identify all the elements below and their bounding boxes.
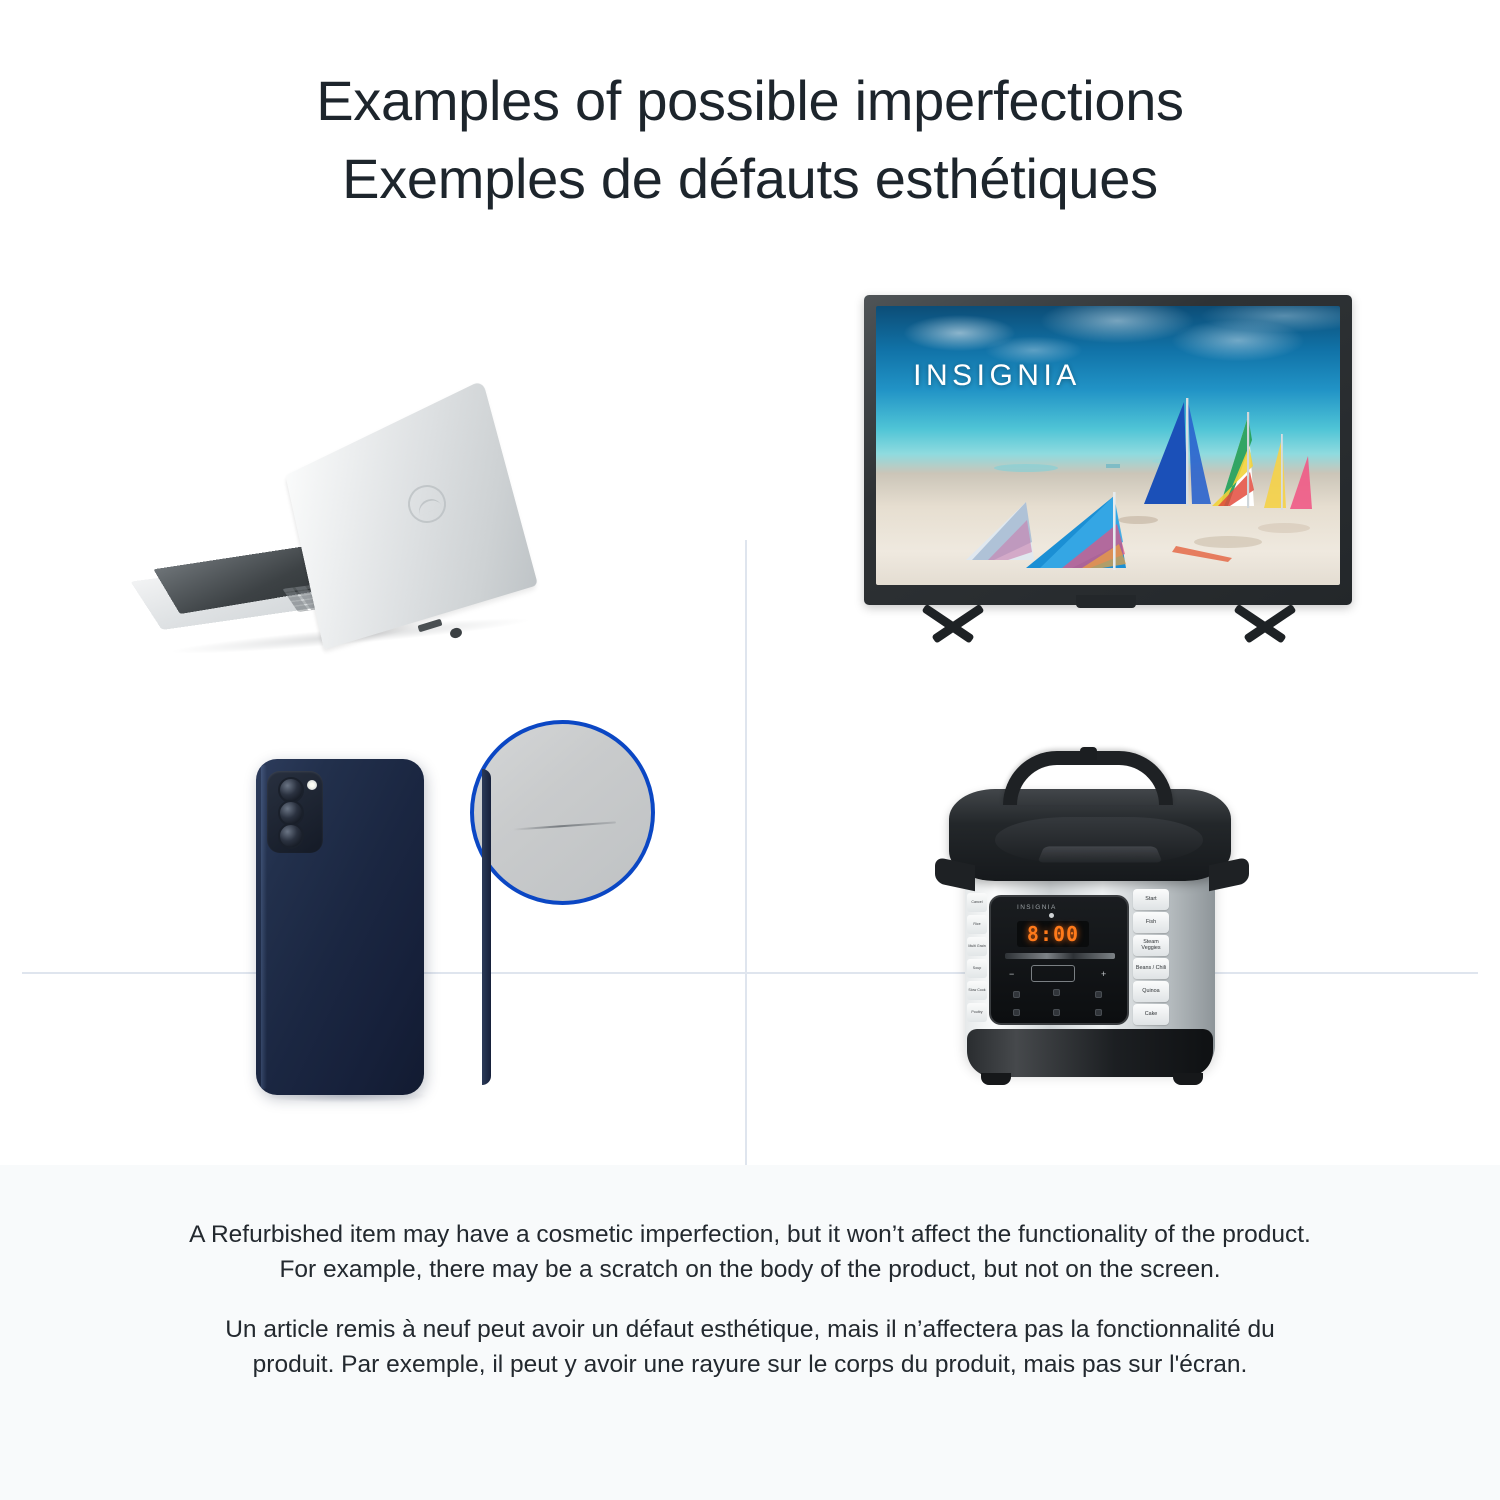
cooker-button[interactable]: Cancel [967,893,987,912]
camera-flash-icon [307,780,317,790]
cooker-button[interactable]: Soup [967,959,987,978]
disclaimer-paragraph-fr: Un article remis à neuf peut avoir un dé… [185,1312,1315,1382]
cooker-control-panel: INSIGNIA 8:00 − + [989,895,1129,1025]
cell-pressure-cooker: Cancel Rice Multi Grain Soup Slow Cook P… [747,719,1500,1165]
cooker-button-fish[interactable]: Fish [1133,912,1169,933]
tv-bezel: INSIGNIA [864,295,1352,605]
tv-beach-scene [876,306,1340,585]
tv-brand-logo: INSIGNIA [913,359,1081,393]
cooker-display: 8:00 [1017,921,1089,947]
cooker-button[interactable]: Multi Grain [967,937,987,956]
cooker-steam-valve-icon [1080,747,1097,760]
cell-television: INSIGNIA [747,255,1500,717]
cooker-handle-ear [935,857,975,892]
camera-lens-icon [278,823,304,849]
cooker-key[interactable] [1013,991,1020,998]
cooker-illustration: Cancel Rice Multi Grain Soup Slow Cook P… [937,747,1277,1127]
tv-screen: INSIGNIA [876,306,1340,585]
cooker-minus-button[interactable]: − [1009,969,1014,979]
cooker-handle-ear [1209,857,1249,892]
examples-grid: INSIGNIA [0,255,1500,1165]
cell-laptop [0,255,745,717]
cooker-button-beans-chili[interactable]: Beans / Chili [1133,958,1169,979]
cooker-button-steam-veggies[interactable]: Steam Veggies [1133,935,1169,956]
refurbished-imperfections-infographic: Examples of possible imperfections Exemp… [0,0,1500,1500]
cooker-key[interactable] [1013,1009,1020,1016]
page-title-fr: Exemples de défauts esthétiques [342,140,1158,218]
cooker-base [967,1029,1213,1077]
cooker-button-start[interactable]: Start [1133,889,1169,910]
cooker-brand-label: INSIGNIA [1017,904,1057,911]
cooker-plus-button[interactable]: + [1101,969,1106,979]
cooker-lid-plate [1037,846,1162,862]
disclaimer-paragraph-en: A Refurbished item may have a cosmetic i… [185,1217,1315,1287]
phone-illustration [256,759,486,1129]
cooker-button-cake[interactable]: Cake [1133,1004,1169,1025]
cooker-button[interactable]: Rice [967,915,987,934]
phone-body [256,759,424,1095]
phone-side-edge [482,769,491,1085]
page-title-en: Examples of possible imperfections [316,62,1184,140]
cooker-pressure-selector[interactable] [1031,965,1075,982]
cooker-key[interactable] [1053,989,1060,996]
tv-ir-sensor [1076,595,1136,608]
cooker-indicator-led [1049,913,1054,918]
cooker-display-value: 8:00 [1027,922,1079,946]
cooker-left-buttons: Cancel Rice Multi Grain Soup Slow Cook P… [967,893,987,1027]
page-header: Examples of possible imperfections Exemp… [0,0,1500,255]
cooker-key[interactable] [1095,1009,1102,1016]
cooker-right-buttons: Start Fish Steam Veggies Beans / Chili Q… [1133,889,1169,1029]
cooker-foot [981,1073,1011,1085]
cooker-key[interactable] [1095,991,1102,998]
cell-smartphone [0,719,745,1165]
cooker-foot [1173,1073,1203,1085]
footer-disclaimer: A Refurbished item may have a cosmetic i… [0,1165,1500,1500]
cooker-button-quinoa[interactable]: Quinoa [1133,981,1169,1002]
cooker-button[interactable]: Poultry [967,1003,987,1022]
cooker-button[interactable]: Slow Cook [967,981,987,1000]
cooker-mode-bar [1005,953,1115,959]
tv-illustration: INSIGNIA [864,295,1384,685]
camera-module-icon [267,771,323,853]
laptop-illustration [150,360,610,655]
cooker-key[interactable] [1053,1009,1060,1016]
